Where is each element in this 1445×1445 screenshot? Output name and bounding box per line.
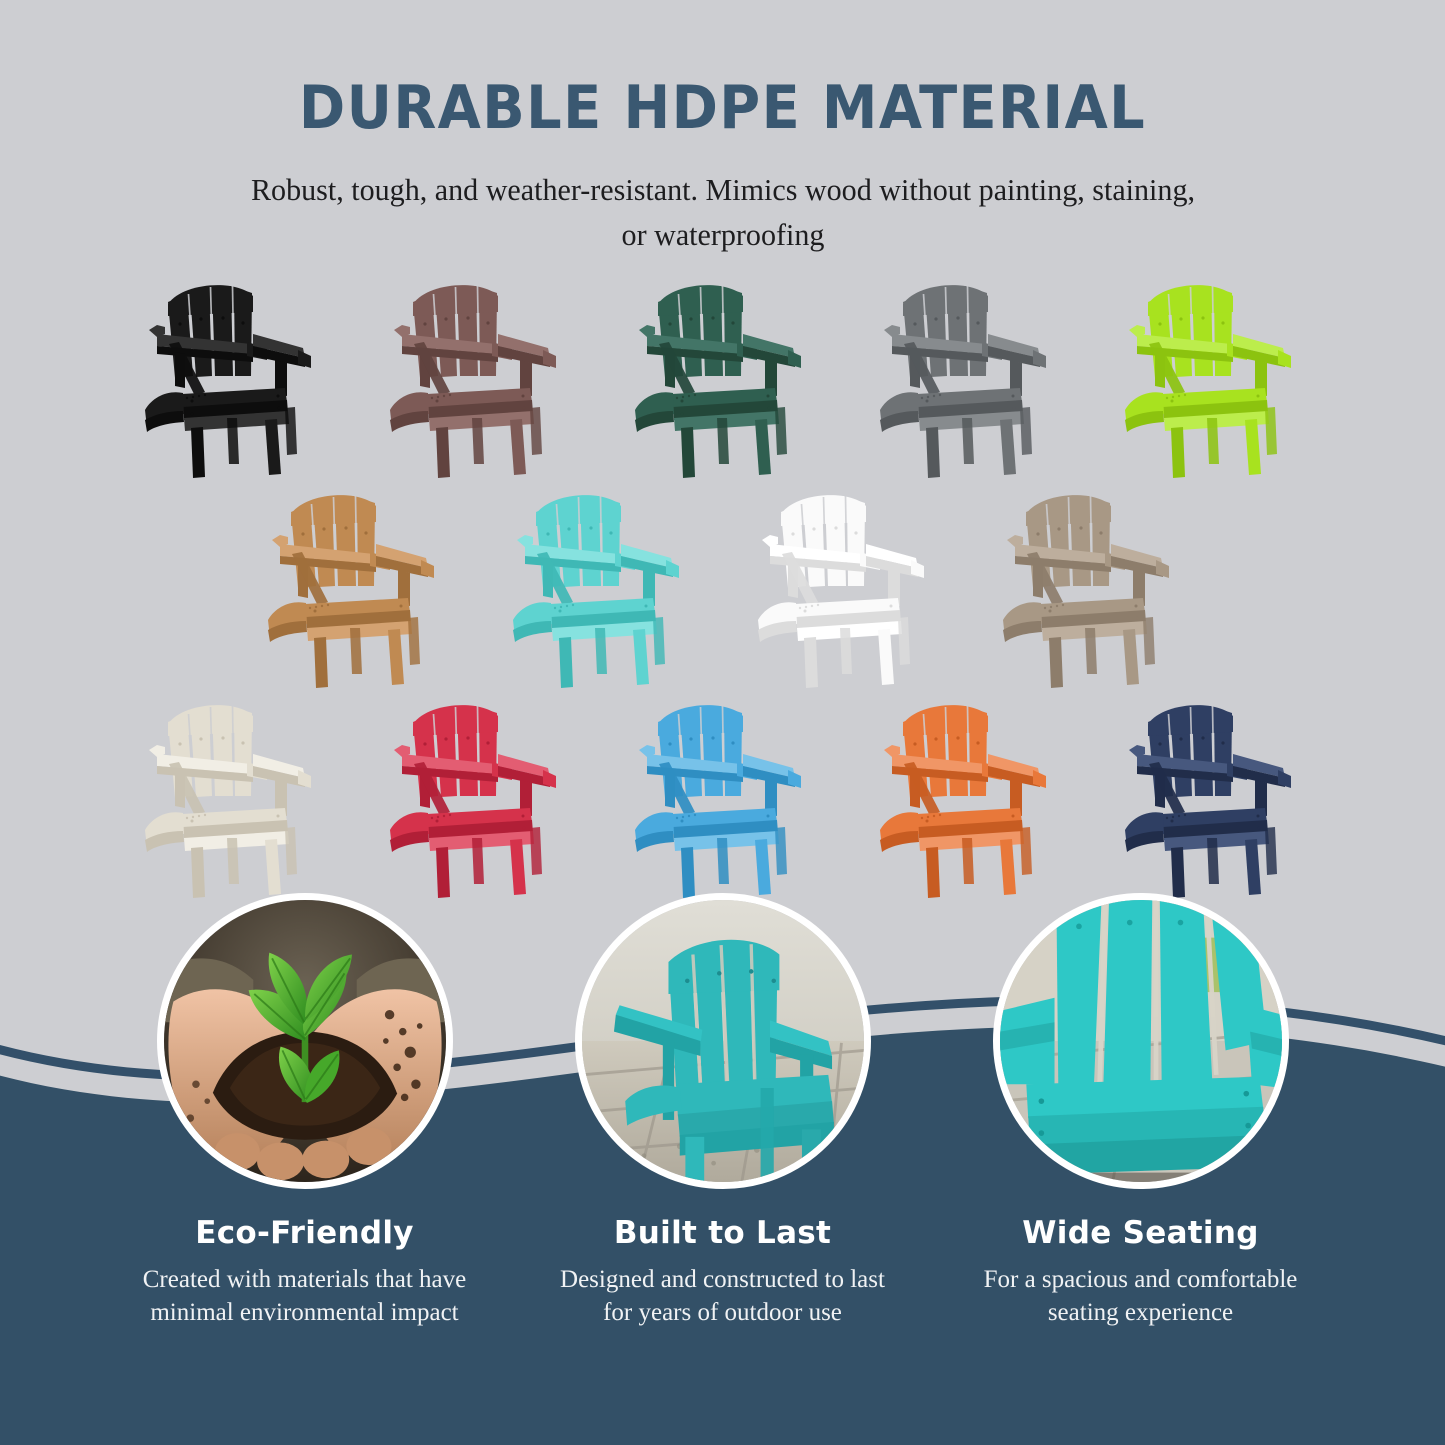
adirondack-chair-icon [258, 478, 453, 693]
page-title: DURABLE HDPE MATERIAL [51, 0, 1395, 138]
adirondack-chair-icon [380, 268, 575, 483]
chair-image [258, 478, 453, 693]
chair-image [625, 688, 820, 903]
chair-image [135, 688, 330, 903]
adirondack-chair-icon [503, 478, 698, 693]
chair-row-3 [0, 688, 1445, 903]
chair-image [135, 268, 330, 483]
chair-image [1115, 688, 1310, 903]
feature-description: Designed and constructed to last for yea… [558, 1263, 888, 1329]
chair-swatch-lime-green[interactable] [1115, 268, 1310, 483]
feature-image-wide-seating [993, 893, 1289, 1189]
adirondack-chair-icon [625, 688, 820, 903]
page-subtitle: Robust, tough, and weather-resistant. Mi… [238, 138, 1208, 258]
chair-on-patio-photo [582, 900, 864, 1182]
chair-row-1 [0, 268, 1445, 483]
chair-swatch-black[interactable] [135, 268, 330, 483]
chair-swatch-orange[interactable] [870, 688, 1065, 903]
chair-row-2 [0, 478, 1445, 693]
feature-built-to-last: Built to Last Designed and constructed t… [558, 893, 888, 1329]
chair-image [748, 478, 943, 693]
feature-title: Built to Last [558, 1215, 888, 1251]
feature-image-eco-friendly [157, 893, 453, 1189]
feature-title: Eco-Friendly [140, 1215, 470, 1251]
chair-image [380, 268, 575, 483]
chair-image [380, 688, 575, 903]
chair-image [625, 268, 820, 483]
chair-swatch-white[interactable] [748, 478, 943, 693]
adirondack-chair-icon [993, 478, 1188, 693]
chair-image [1115, 268, 1310, 483]
header: DURABLE HDPE MATERIAL Robust, tough, and… [0, 0, 1445, 258]
chair-swatch-red[interactable] [380, 688, 575, 903]
chair-image [870, 688, 1065, 903]
adirondack-chair-icon [748, 478, 943, 693]
feature-list: Eco-Friendly Created with materials that… [0, 893, 1445, 1329]
adirondack-chair-icon [135, 688, 330, 903]
adirondack-chair-icon [135, 268, 330, 483]
chair-swatch-gray[interactable] [870, 268, 1065, 483]
chair-swatch-ivory[interactable] [135, 688, 330, 903]
chair-swatch-dark-green[interactable] [625, 268, 820, 483]
chair-swatch-turquoise[interactable] [503, 478, 698, 693]
adirondack-chair-icon [625, 268, 820, 483]
feature-title: Wide Seating [976, 1215, 1306, 1251]
adirondack-chair-icon [380, 688, 575, 903]
infographic-canvas: DURABLE HDPE MATERIAL Robust, tough, and… [0, 0, 1445, 1445]
chair-swatch-teak[interactable] [258, 478, 453, 693]
chair-wide-seat-closeup-photo [1000, 900, 1282, 1182]
chair-color-grid [0, 268, 1445, 908]
chair-swatch-weathered-wood[interactable] [993, 478, 1188, 693]
feature-image-built-to-last [575, 893, 871, 1189]
adirondack-chair-icon [870, 688, 1065, 903]
feature-description: Created with materials that have minimal… [140, 1263, 470, 1329]
chair-swatch-navy-blue[interactable] [1115, 688, 1310, 903]
chair-image [503, 478, 698, 693]
adirondack-chair-icon [1115, 688, 1310, 903]
hands-holding-seedling-icon [164, 900, 446, 1182]
feature-description: For a spacious and comfortable seating e… [976, 1263, 1306, 1329]
adirondack-chair-icon [1115, 268, 1310, 483]
feature-eco-friendly: Eco-Friendly Created with materials that… [140, 893, 470, 1329]
feature-wide-seating: Wide Seating For a spacious and comforta… [976, 893, 1306, 1329]
adirondack-chair-icon [870, 268, 1065, 483]
chair-image [993, 478, 1188, 693]
chair-image [870, 268, 1065, 483]
chair-swatch-light-blue[interactable] [625, 688, 820, 903]
chair-swatch-brown[interactable] [380, 268, 575, 483]
